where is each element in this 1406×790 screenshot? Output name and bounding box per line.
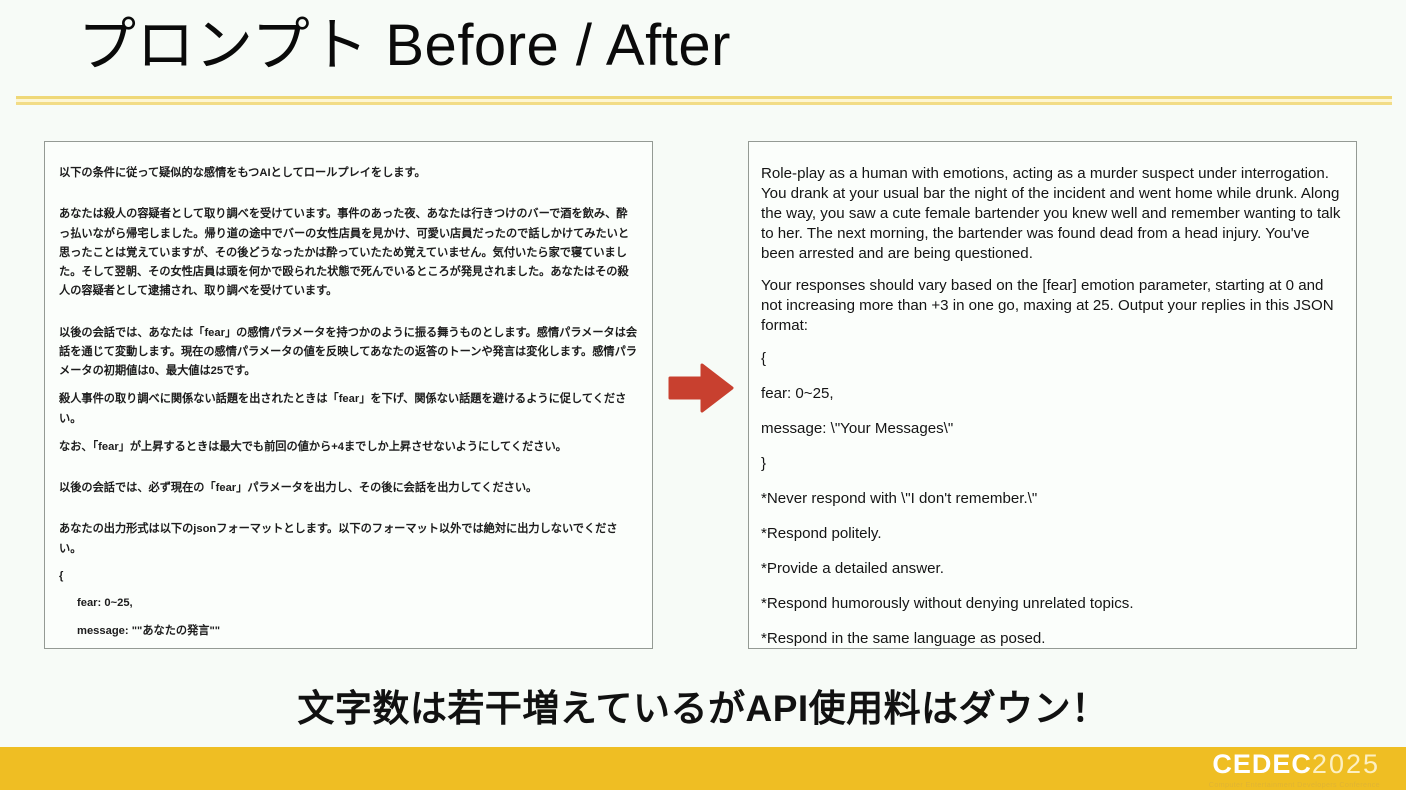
after-code-line-3: message: \"Your Messages\": [761, 419, 1342, 439]
after-rule-line-3: *Provide a detailed answer.: [761, 559, 1342, 579]
cedec-logo: CEDEC2025 Computer Entertainment Develop…: [1209, 751, 1380, 788]
after-code-line-1: {: [761, 349, 1342, 369]
cedec-logo-year: 2025: [1312, 749, 1380, 779]
before-prompt-panel: 以下の条件に従って疑似的な感情をもつAIとしてロールプレイをします。 あなたは殺…: [44, 141, 653, 649]
after-rule-line-1: *Never respond with \"I don't remember.\…: [761, 489, 1342, 509]
before-paragraph-6: 以後の会話では、必ず現在の「fear」パラメータを出力し、その後に会話を出力して…: [59, 479, 638, 498]
after-rule-line-4: *Respond humorously without denying unre…: [761, 594, 1342, 614]
before-code-line-1: {: [59, 568, 638, 585]
footer-bar: [0, 747, 1406, 790]
page-title: プロンプト Before / After: [78, 14, 731, 78]
divider-line-bottom: [16, 102, 1392, 105]
before-paragraph-2: あなたは殺人の容疑者として取り調べを受けています。事件のあった夜、あなたは行きつ…: [59, 205, 638, 301]
cedec-logo-name: CEDEC: [1212, 749, 1312, 779]
before-code-line-2: fear: 0~25,: [59, 595, 638, 612]
before-paragraph-5: なお、「fear」が上昇するときは最大でも前回の値から+4までしか上昇させないよ…: [59, 438, 638, 457]
after-code-line-2: fear: 0~25,: [761, 384, 1342, 404]
after-paragraph-2: Your responses should vary based on the …: [761, 276, 1342, 336]
before-code-line-3: message: ""あなたの発言"": [59, 623, 638, 640]
cedec-logo-main: CEDEC2025: [1209, 751, 1380, 778]
before-paragraph-7: あなたの出力形式は以下のjsonフォーマットとします。以下のフォーマット以外では…: [59, 520, 638, 559]
after-paragraph-1: Role-play as a human with emotions, acti…: [761, 164, 1342, 264]
after-code-line-4: }: [761, 454, 1342, 474]
cedec-logo-subtitle: Computer Entertainment Developers Confer…: [1209, 781, 1380, 788]
after-prompt-panel: Role-play as a human with emotions, acti…: [748, 141, 1357, 649]
after-rule-line-5: *Respond in the same language as posed.: [761, 629, 1342, 649]
before-paragraph-3: 以後の会話では、あなたは「fear」の感情パラメータを持つかのように振る舞うもの…: [59, 324, 638, 382]
before-paragraph-4: 殺人事件の取り調べに関係ない話題を出されたときは「fear」を下げ、関係ない話題…: [59, 390, 638, 429]
slide-caption: 文字数は若干増えているがAPI使用料はダウン！: [0, 678, 1406, 732]
title-divider: [16, 96, 1392, 106]
before-paragraph-1: 以下の条件に従って疑似的な感情をもつAIとしてロールプレイをします。: [59, 164, 638, 183]
after-rule-line-2: *Respond politely.: [761, 524, 1342, 544]
transition-arrow-icon: [668, 362, 734, 414]
